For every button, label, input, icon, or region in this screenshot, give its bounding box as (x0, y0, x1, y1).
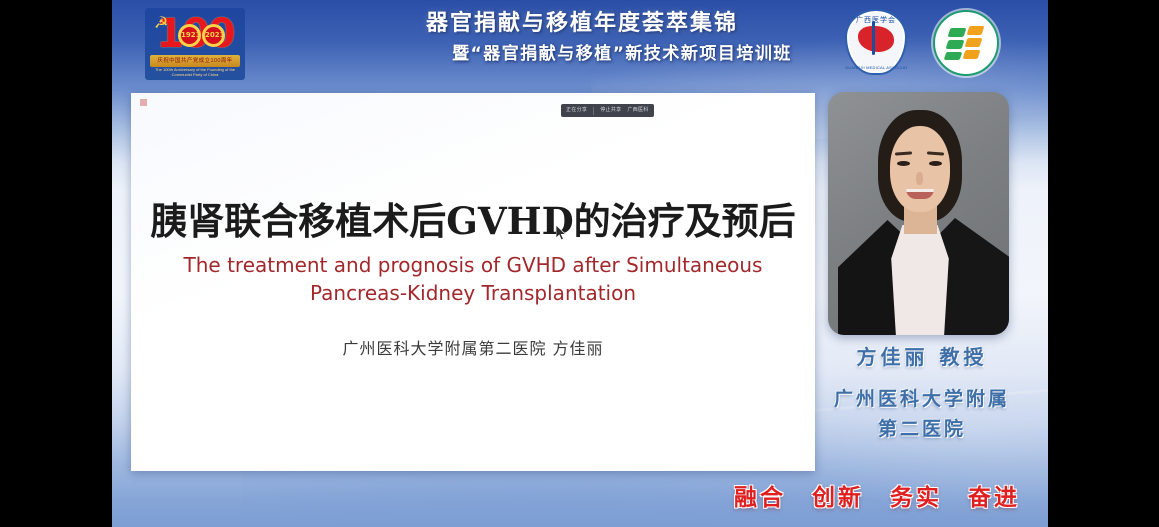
slogan-word-1: 融合 (734, 483, 786, 513)
conference-slogan: 融合 创新 务实 奋进 (672, 478, 1048, 518)
share-source-label: 广西医科 (627, 104, 648, 117)
slide-corner-marker (140, 99, 147, 106)
emblem-year-right: 2021 (202, 24, 225, 47)
portrait-eye-right (929, 161, 942, 166)
portrait-nose (916, 172, 923, 185)
shared-presentation-slide[interactable]: 正在分享 停止共享 广西医科 胰肾联合移植术后GVHD的治疗及预后 The tr… (131, 93, 815, 471)
share-status-label: 正在分享 (566, 104, 587, 117)
speaker-organization-line1: 广州医科大学附属 (812, 384, 1032, 414)
cpc-centenary-emblem-icon: 100 ☭ 1921 2021 庆祝中国共产党成立100周年 The 100th… (145, 8, 245, 80)
slide-subtitle-line1: The treatment and prognosis of GVHD afte… (149, 251, 797, 279)
slide-title-chinese: 胰肾联合移植术后GVHD的治疗及预后 (131, 198, 815, 244)
logo-stripe (965, 38, 983, 47)
slide-subtitle-line2: Pancreas-Kidney Transplantation (149, 279, 797, 307)
conference-title-primary: 器官捐献与移植年度荟萃集锦 (272, 11, 892, 37)
staff-icon (872, 21, 875, 55)
green-circular-logo-icon (933, 10, 999, 76)
slogan-word-3: 务实 (890, 483, 942, 513)
mouse-cursor-icon (556, 225, 568, 241)
emblem-ribbon-text: 庆祝中国共产党成立100周年 (150, 55, 240, 67)
screen-stage: 100 ☭ 1921 2021 庆祝中国共产党成立100周年 The 100th… (0, 0, 1159, 527)
logo-stripe (967, 26, 985, 35)
logo-en-text: GUANGXI MEDICAL ASSOCIATION (845, 65, 907, 70)
speaker-name: 方佳丽 教授 (812, 344, 1032, 370)
speaker-portrait-photo (828, 92, 1009, 335)
letterbox-bar-right (1048, 0, 1159, 527)
conference-header: 100 ☭ 1921 2021 庆祝中国共产党成立100周年 The 100th… (112, 0, 1048, 88)
speaker-organization-line2: 第二医院 (812, 414, 1032, 444)
slide-subtitle-english: The treatment and prognosis of GVHD afte… (149, 251, 797, 307)
speaker-panel: 方佳丽 教授 广州医科大学附属 第二医院 (812, 88, 1048, 468)
screen-share-toolbar[interactable]: 正在分享 停止共享 广西医科 (561, 104, 654, 117)
emblem-subtext: The 100th Anniversary of the Founding of… (150, 67, 240, 78)
broadcast-canvas: 100 ☭ 1921 2021 庆祝中国共产党成立100周年 The 100th… (112, 0, 1048, 527)
logo-stripe (944, 52, 963, 60)
portrait-eye-left (897, 161, 910, 166)
toolbar-divider (593, 107, 594, 115)
emblem-year-left: 1921 (178, 24, 201, 47)
slogan-word-4: 奋进 (968, 483, 1020, 513)
guangxi-medical-association-logo-icon: 广西医学会 GUANGXI MEDICAL ASSOCIATION (845, 9, 907, 75)
logo-stripe (946, 40, 965, 49)
slide-author-affiliation: 广州医科大学附属第二医院 方佳丽 (131, 338, 815, 360)
hammer-sickle-icon: ☭ (154, 15, 174, 33)
letterbox-bar-left (0, 0, 112, 527)
slogan-word-2: 创新 (812, 483, 864, 513)
portrait-face (890, 126, 950, 212)
logo-stripe (963, 50, 981, 59)
conference-title-secondary: 暨“器官捐献与移植”新技术新项目培训班 (312, 43, 932, 65)
speaker-organization: 广州医科大学附属 第二医院 (812, 384, 1032, 444)
logo-stripe (948, 28, 967, 37)
logo-cn-text: 广西医学会 (845, 15, 907, 25)
stop-share-button[interactable]: 停止共享 (600, 104, 621, 117)
